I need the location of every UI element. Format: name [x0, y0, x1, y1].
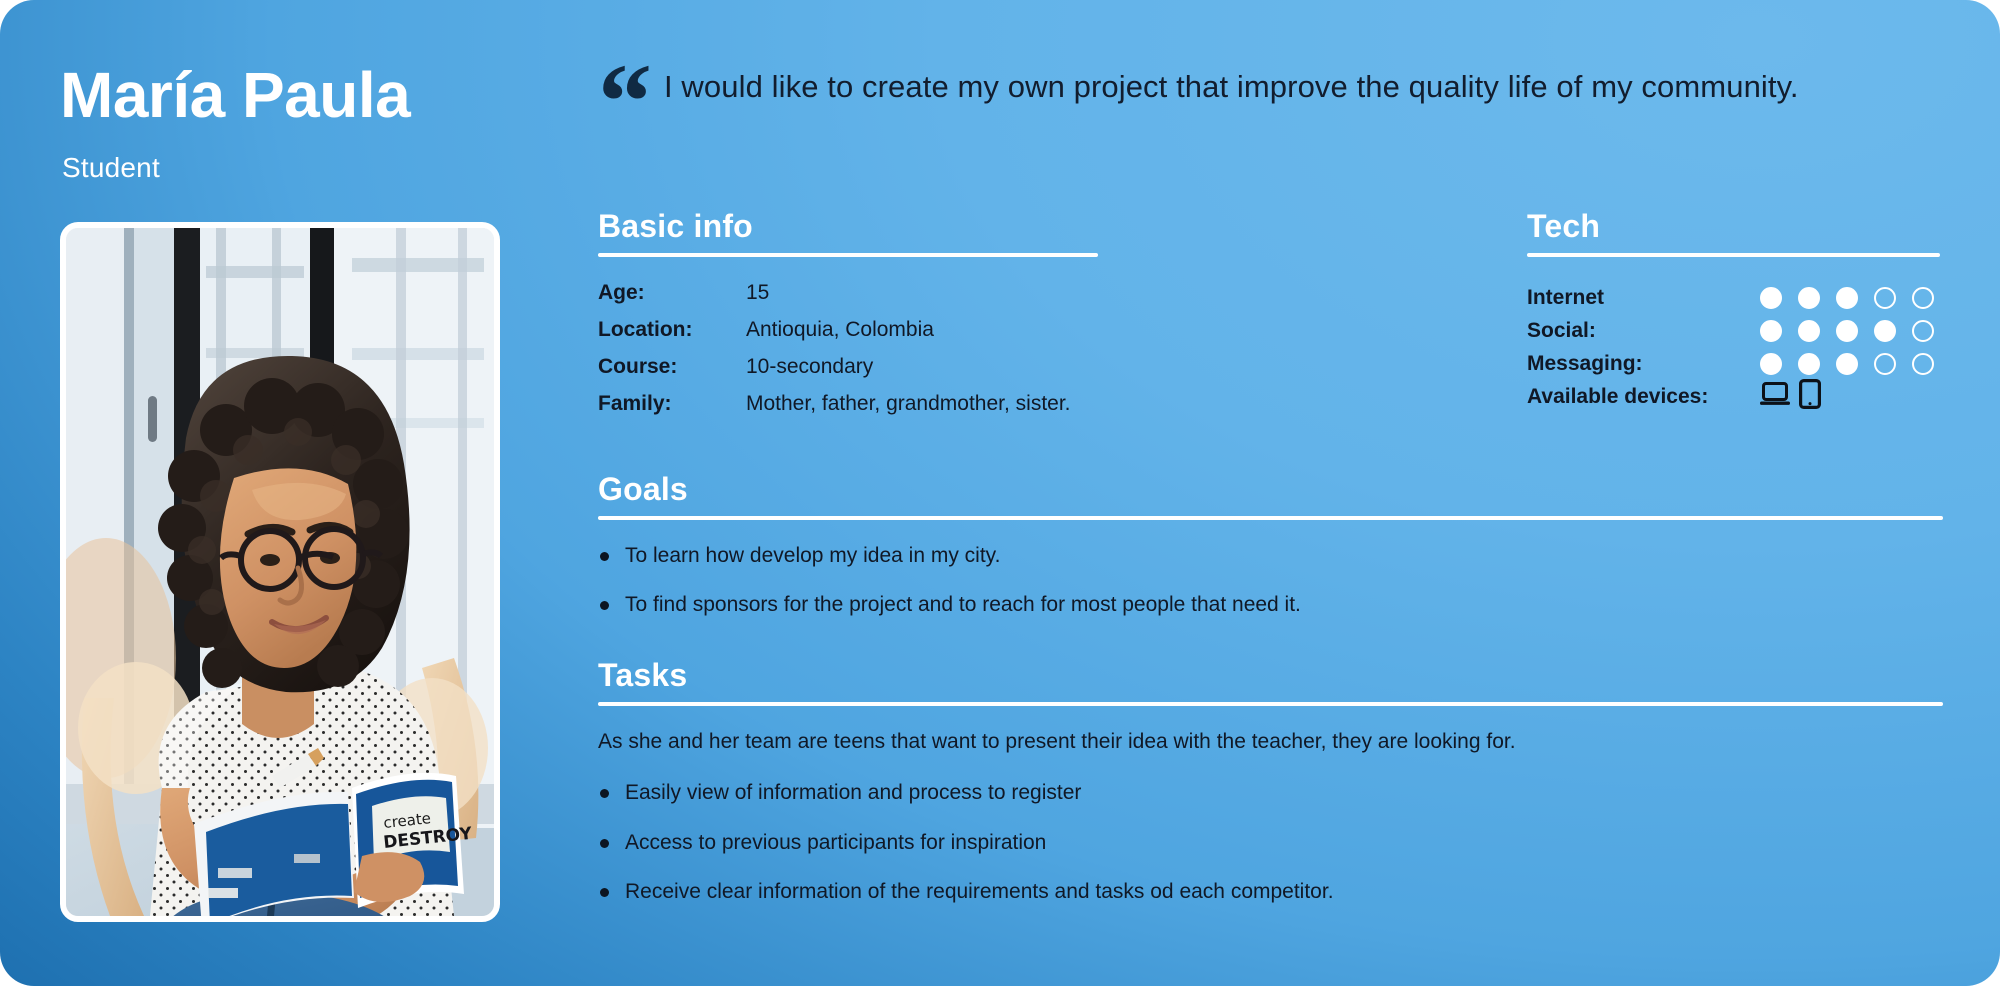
quote-text: I would like to create my own project th…: [664, 62, 1934, 107]
rating-dot: [1874, 353, 1896, 375]
persona-photo-image: create DESTROY: [66, 228, 494, 916]
list-item: Access to previous participants for insp…: [598, 829, 1943, 856]
tech-row-devices: Available devices:: [1527, 380, 1940, 413]
tech-section: Tech Internet Social:: [1527, 208, 1940, 413]
persona-identity-column: María Paula Student: [60, 0, 500, 986]
rating-internet: [1760, 287, 1934, 309]
rating-dot: [1760, 320, 1782, 342]
info-label-family: Family:: [598, 392, 746, 429]
list-item: To learn how develop my idea in my city.: [598, 542, 1943, 569]
info-value-family: Mother, father, grandmother, sister.: [746, 392, 1071, 429]
info-label-age: Age:: [598, 281, 746, 318]
persona-role: Student: [62, 152, 160, 184]
tech-row-social: Social:: [1527, 314, 1940, 347]
tech-row-internet: Internet: [1527, 281, 1940, 314]
rating-dot: [1798, 353, 1820, 375]
tasks-divider: [598, 702, 1943, 706]
rating-dot: [1836, 353, 1858, 375]
list-item: To find sponsors for the project and to …: [598, 591, 1943, 618]
rating-dot: [1912, 287, 1934, 309]
tech-label-devices: Available devices:: [1527, 385, 1760, 409]
tech-label-internet: Internet: [1527, 286, 1760, 310]
rating-dot: [1874, 320, 1896, 342]
tasks-intro-text: As she and her team are teens that want …: [598, 728, 1943, 755]
rating-dot: [1912, 320, 1934, 342]
device-icon-list: [1760, 379, 1821, 414]
info-value-age: 15: [746, 281, 1071, 318]
rating-dot: [1798, 287, 1820, 309]
rating-dot: [1836, 320, 1858, 342]
rating-messaging: [1760, 353, 1934, 375]
rating-dot: [1912, 353, 1934, 375]
rating-dot: [1760, 287, 1782, 309]
tech-row-messaging: Messaging:: [1527, 347, 1940, 380]
persona-photo: create DESTROY: [60, 222, 500, 922]
goals-divider: [598, 516, 1943, 520]
basic-info-section: Basic info Age: 15 Location: Antioquia, …: [598, 208, 1098, 429]
tablet-icon: [1799, 379, 1821, 414]
tech-divider: [1527, 253, 1940, 257]
persona-card: María Paula Student: [0, 0, 2000, 986]
table-row: Location: Antioquia, Colombia: [598, 318, 1071, 355]
tech-label-social: Social:: [1527, 319, 1760, 343]
list-item: Easily view of information and process t…: [598, 779, 1943, 806]
tasks-section: Tasks As she and her team are teens that…: [598, 657, 1943, 905]
goals-heading: Goals: [598, 471, 1943, 508]
rating-dot: [1760, 353, 1782, 375]
info-value-location: Antioquia, Colombia: [746, 318, 1071, 355]
laptop-icon: [1760, 381, 1790, 412]
info-label-course: Course:: [598, 355, 746, 392]
info-label-location: Location:: [598, 318, 746, 355]
rating-social: [1760, 320, 1934, 342]
basic-info-heading: Basic info: [598, 208, 1098, 245]
table-row: Course: 10-secondary: [598, 355, 1071, 392]
tech-heading: Tech: [1527, 208, 1940, 245]
basic-info-divider: [598, 253, 1098, 257]
page-title: María Paula: [60, 62, 410, 129]
goals-section: Goals To learn how develop my idea in my…: [598, 471, 1943, 619]
info-value-course: 10-secondary: [746, 355, 1071, 392]
tasks-list: Easily view of information and process t…: [598, 779, 1943, 905]
persona-quote: “ I would like to create my own project …: [598, 62, 1942, 142]
rating-dot: [1836, 287, 1858, 309]
tasks-heading: Tasks: [598, 657, 1943, 694]
tech-rating-list: Internet Social:: [1527, 281, 1940, 413]
tech-label-messaging: Messaging:: [1527, 352, 1760, 376]
rating-dot: [1798, 320, 1820, 342]
list-item: Receive clear information of the require…: [598, 878, 1943, 905]
table-row: Family: Mother, father, grandmother, sis…: [598, 392, 1071, 429]
rating-dot: [1874, 287, 1896, 309]
quote-mark-icon: “: [598, 64, 664, 142]
persona-details-column: “ I would like to create my own project …: [598, 0, 1942, 986]
table-row: Age: 15: [598, 281, 1071, 318]
goals-list: To learn how develop my idea in my city.…: [598, 542, 1943, 619]
basic-info-table: Age: 15 Location: Antioquia, Colombia Co…: [598, 281, 1071, 429]
